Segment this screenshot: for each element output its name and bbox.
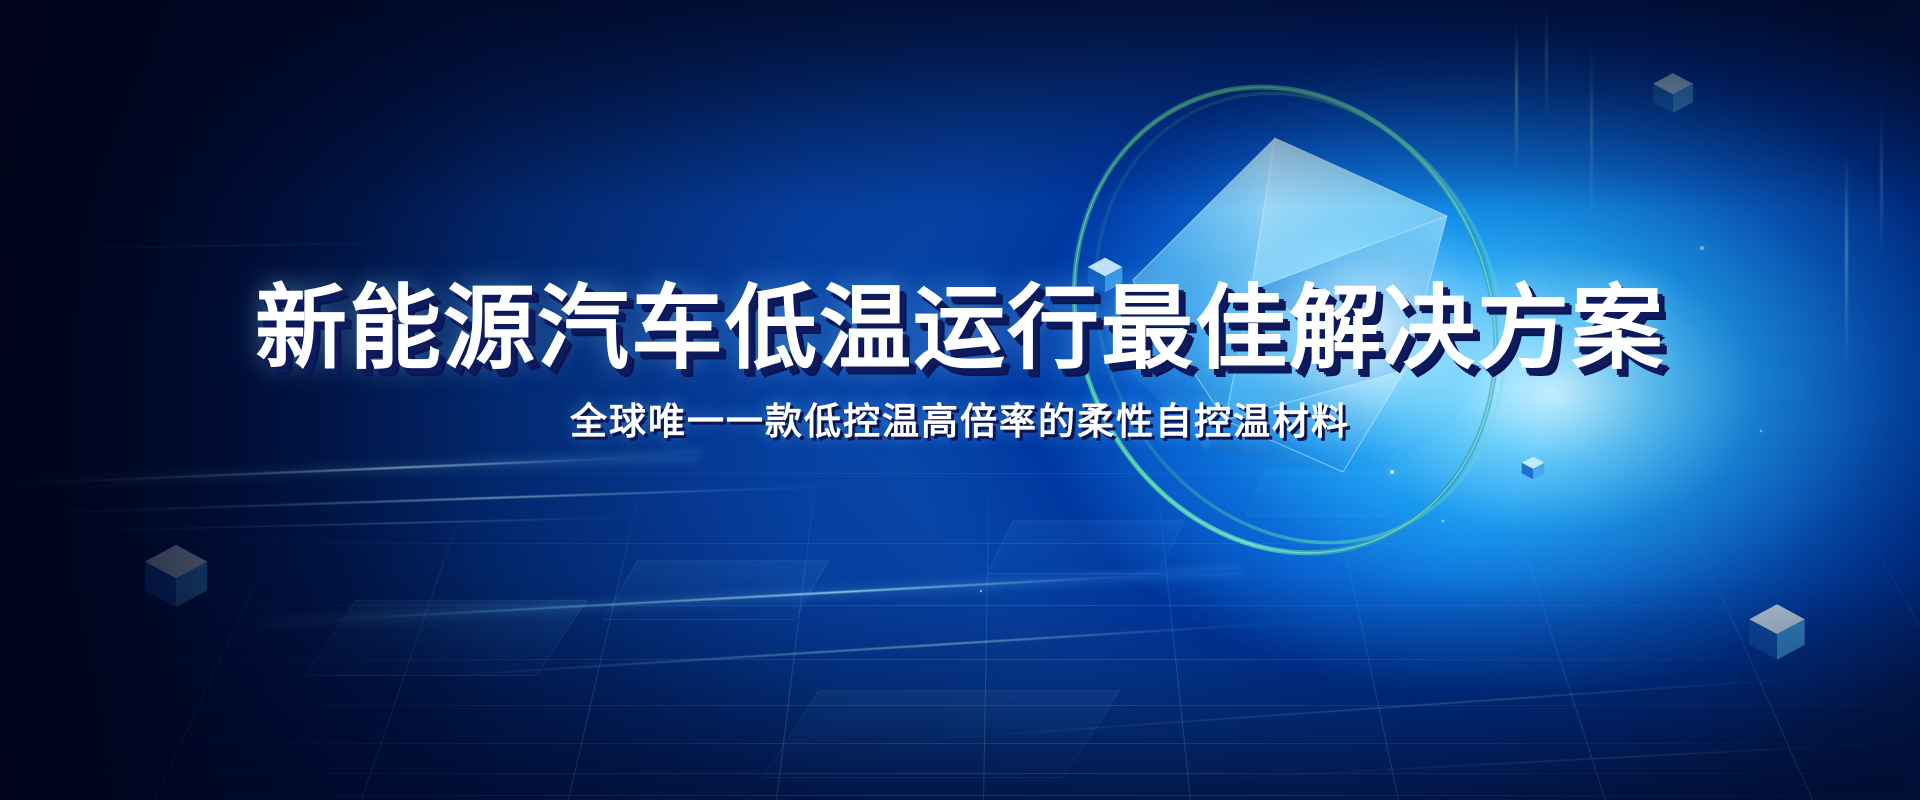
banner-text-block: 新能源汽车低温运行最佳解决方案 全球唯一一款低控温高倍率的柔性自控温材料 (0, 282, 1920, 444)
page-subtitle: 全球唯一一款低控温高倍率的柔性自控温材料 (0, 400, 1920, 444)
page-title: 新能源汽车低温运行最佳解决方案 (0, 282, 1920, 378)
banner-stage: 新能源汽车低温运行最佳解决方案 全球唯一一款低控温高倍率的柔性自控温材料 (0, 0, 1920, 800)
